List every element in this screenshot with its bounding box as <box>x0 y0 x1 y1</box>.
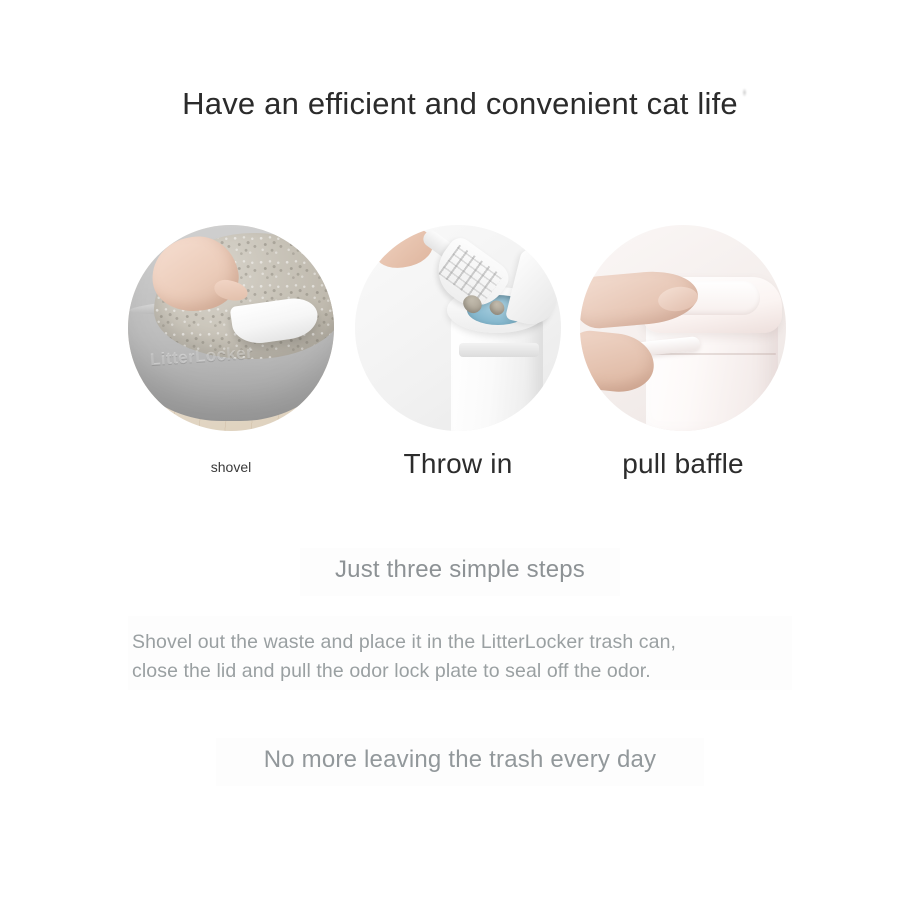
body-line-1: Shovel out the waste and place it in the… <box>132 628 792 657</box>
step-item-throw-in[interactable]: Throw in <box>355 225 561 480</box>
step-label-pull-baffle: pull baffle <box>580 448 786 480</box>
subhead-text: Just three simple steps <box>0 556 920 584</box>
tagline-text: No more leaving the trash every day <box>0 746 920 774</box>
body-line-2: close the lid and pull the odor lock pla… <box>132 657 792 686</box>
trash-can-front-panel <box>459 343 539 357</box>
step-item-shovel[interactable]: LitterLocker shovel <box>128 225 334 475</box>
photo-scoop-dumping-into-trash-can <box>355 225 561 431</box>
can-seam-line <box>650 353 776 355</box>
photo-hands-pulling-odor-lock-baffle <box>580 225 786 431</box>
page-title: Have an efficient and convenient cat lif… <box>0 82 920 126</box>
step-item-pull-baffle[interactable]: pull baffle <box>580 225 786 480</box>
dust-speck-artifact <box>742 88 747 97</box>
step-label-shovel: shovel <box>128 459 334 475</box>
product-infographic-page: Have an efficient and convenient cat lif… <box>0 0 920 920</box>
photo-hand-scooping-litter-box: LitterLocker <box>128 225 334 431</box>
body-paragraph: Shovel out the waste and place it in the… <box>132 628 792 686</box>
step-label-throw-in: Throw in <box>355 448 561 480</box>
steps-row: LitterLocker shovel Throw <box>0 225 920 525</box>
